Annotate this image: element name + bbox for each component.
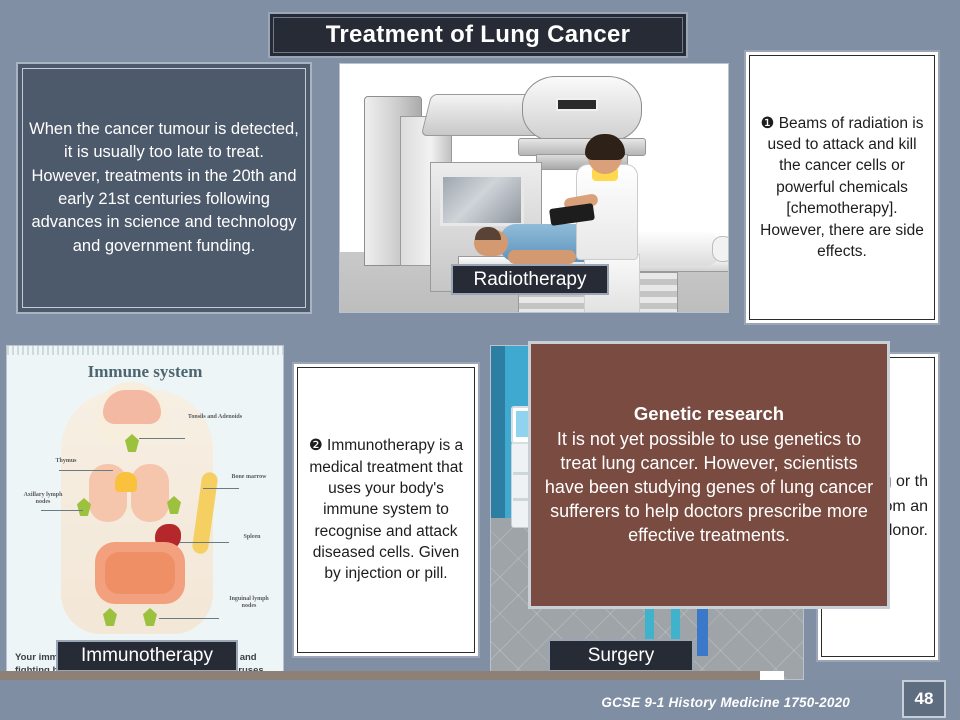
immune-system-image: Immune system Tonsils and Adenoids Th bbox=[6, 345, 284, 685]
immune-lung-right bbox=[131, 464, 169, 522]
immunotherapy-note-text: ❷ Immunotherapy is a medical treatment t… bbox=[304, 435, 468, 585]
immune-leader-axillary bbox=[41, 510, 83, 511]
immunotherapy-caption: Immunotherapy bbox=[56, 640, 238, 672]
radiotherapy-note-box: ❶ Beams of radiation is used to attack a… bbox=[744, 50, 940, 325]
immune-diagram-title: Immune system bbox=[7, 362, 283, 382]
rt-console-screen bbox=[440, 174, 524, 226]
immune-intestines-inner bbox=[105, 552, 175, 594]
genetic-research-body: It is not yet possible to use genetics t… bbox=[541, 427, 877, 548]
immune-label-tonsils: Tonsils and Adenoids bbox=[185, 414, 245, 421]
immune-leader-bone-marrow bbox=[203, 488, 239, 489]
immune-top-ruler bbox=[7, 346, 283, 355]
surgery-caption: Surgery bbox=[548, 639, 694, 672]
slide-title-bar: Treatment of Lung Cancer bbox=[268, 12, 688, 58]
intro-text-box-inner: When the cancer tumour is detected, it i… bbox=[22, 68, 306, 308]
radiotherapy-note-text: ❶ Beams of radiation is used to attack a… bbox=[756, 113, 928, 263]
radiotherapy-note-inner: ❶ Beams of radiation is used to attack a… bbox=[749, 55, 935, 320]
immune-brain bbox=[103, 390, 161, 424]
radiotherapy-caption: Radiotherapy bbox=[451, 264, 609, 295]
page-title: Treatment of Lung Cancer bbox=[326, 21, 631, 49]
footer-source-text: GCSE 9-1 History Medicine 1750-2020 bbox=[601, 695, 850, 710]
immune-label-spleen: Spleen bbox=[231, 534, 273, 541]
genetic-research-title: Genetic research bbox=[541, 403, 877, 425]
immune-leader-tonsils bbox=[139, 438, 185, 439]
rt-patient-arm bbox=[508, 250, 576, 264]
intro-text: When the cancer tumour is detected, it i… bbox=[29, 118, 299, 259]
footer-accent-bar-end bbox=[760, 671, 784, 680]
immunotherapy-note-inner: ❷ Immunotherapy is a medical treatment t… bbox=[297, 367, 475, 653]
rt-patient-foot-left bbox=[712, 236, 729, 262]
immune-label-thymus: Thymus bbox=[43, 458, 89, 465]
immune-label-bone-marrow: Bone marrow bbox=[227, 474, 271, 481]
immune-label-axillary: Axillary lymph nodes bbox=[17, 492, 69, 506]
rt-beam-aperture bbox=[556, 98, 598, 111]
footer-accent-bar bbox=[0, 671, 760, 680]
immune-leader-thymus bbox=[59, 470, 113, 471]
slide-canvas: Treatment of Lung Cancer When the cancer… bbox=[0, 0, 960, 720]
immunotherapy-note-box: ❷ Immunotherapy is a medical treatment t… bbox=[292, 362, 480, 658]
immune-label-inguinal: Inguinal lymph nodes bbox=[223, 596, 275, 610]
immune-leader-inguinal bbox=[159, 618, 219, 619]
genetic-research-text: Genetic research It is not yet possible … bbox=[541, 403, 877, 548]
page-number-badge: 48 bbox=[902, 680, 946, 718]
intro-text-box: When the cancer tumour is detected, it i… bbox=[16, 62, 312, 314]
surgery-wall-shadow bbox=[491, 346, 505, 518]
immune-system-illustration: Immune system Tonsils and Adenoids Th bbox=[7, 346, 283, 684]
immune-leader-spleen bbox=[179, 542, 229, 543]
genetic-research-box: Genetic research It is not yet possible … bbox=[528, 341, 890, 609]
slide-title-inner-border: Treatment of Lung Cancer bbox=[273, 17, 683, 53]
immune-thymus-organ bbox=[115, 472, 137, 492]
